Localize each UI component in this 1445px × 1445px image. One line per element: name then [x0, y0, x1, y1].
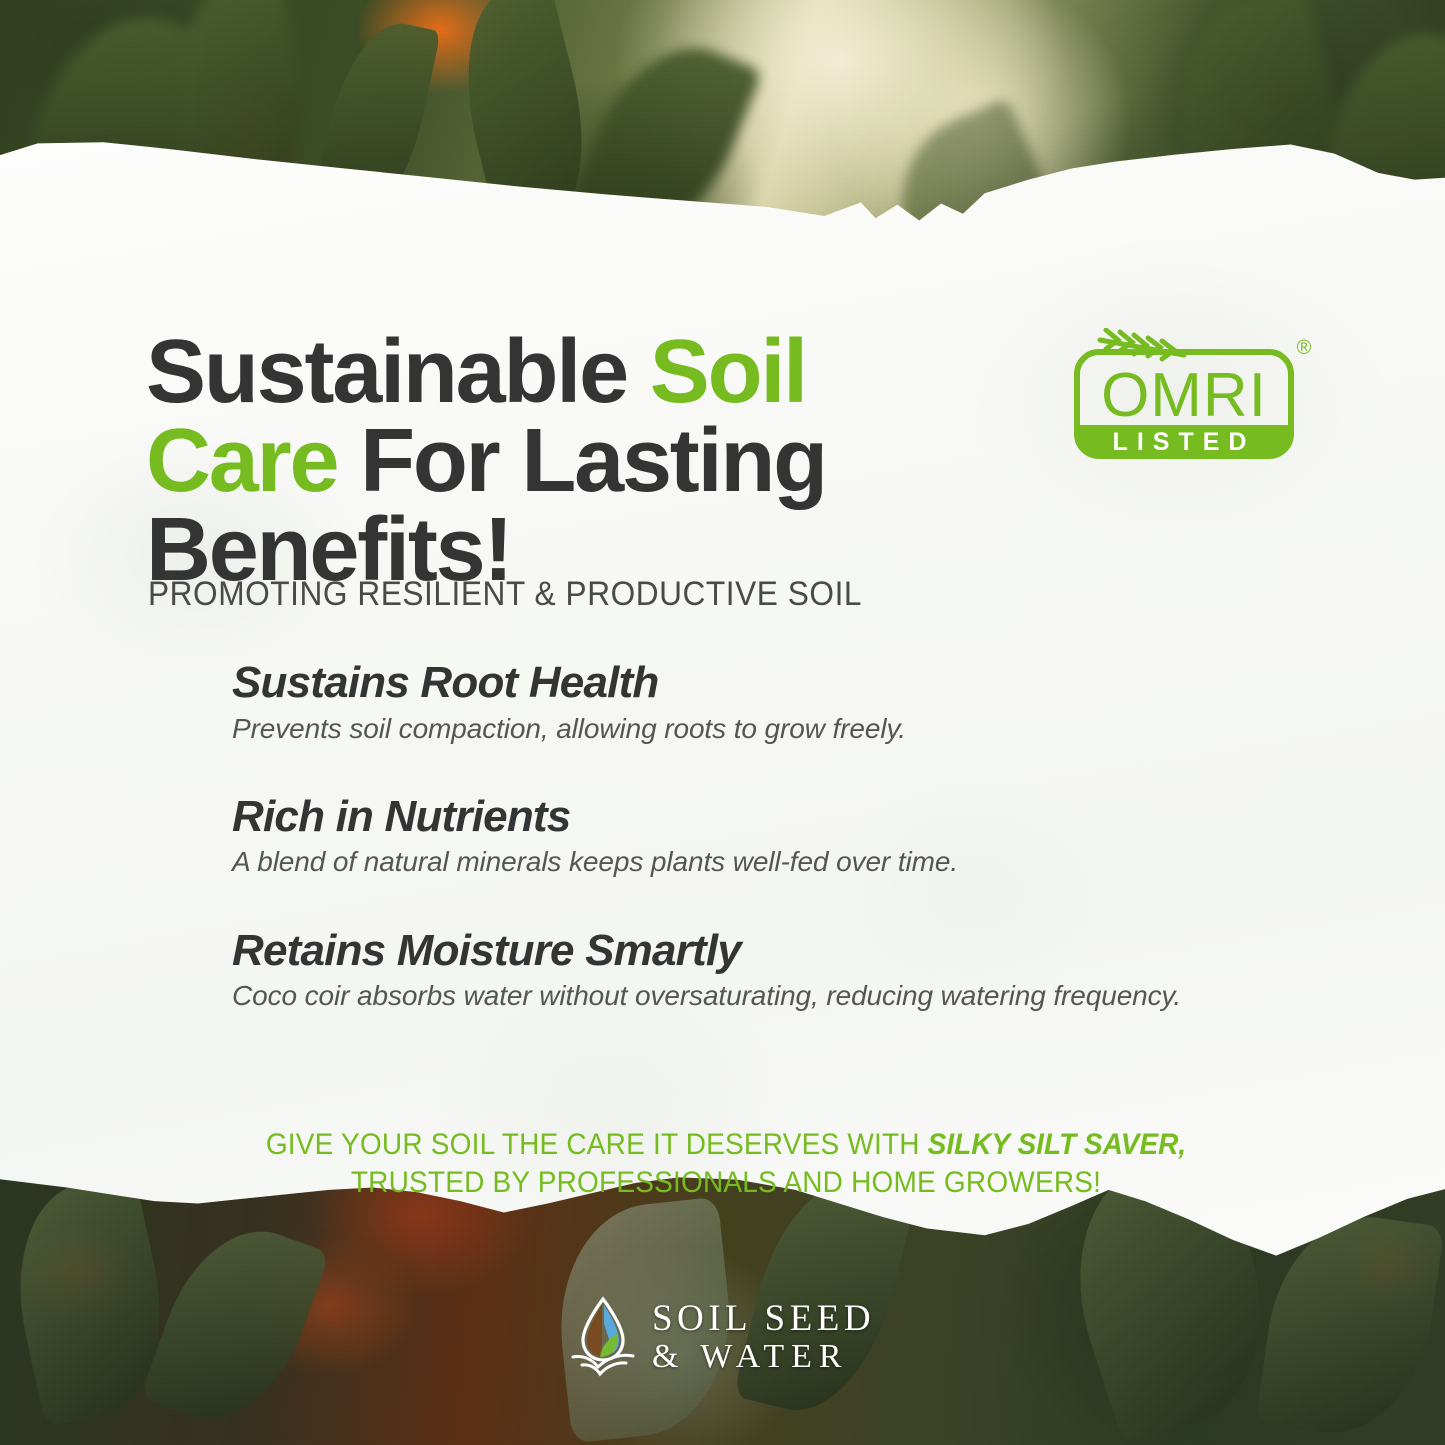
cta-part1: GIVE YOUR SOIL THE CARE IT DESERVES WITH [266, 1128, 928, 1161]
benefit-title: Rich in Nutrients [232, 793, 1242, 841]
headline-line1-accent: Soil [650, 322, 806, 422]
omri-badge-top-text: OMRI [1101, 361, 1267, 430]
registered-trademark-icon: ® [1297, 337, 1312, 359]
benefit-description: Coco coir absorbs water without oversatu… [232, 978, 1242, 1014]
brand-logo-line1: SOIL SEED [652, 1299, 875, 1338]
poster-content: Sustainable Soil Care For Lasting Benefi… [0, 132, 1445, 1267]
list-item: Sustains Root Health Prevents soil compa… [232, 659, 1242, 747]
headline-line2-plain: For Lasting [337, 411, 826, 511]
poster-root: Sustainable Soil Care For Lasting Benefi… [0, 0, 1445, 1445]
omri-listed-badge: OMRI LISTED ® [1066, 328, 1316, 468]
headline-line1-plain: Sustainable [146, 322, 650, 422]
cta-product-name: SILKY SILT SAVER, [928, 1128, 1187, 1161]
list-item: Retains Moisture Smartly Coco coir absor… [232, 927, 1242, 1015]
benefits-list: Sustains Root Health Prevents soil compa… [232, 659, 1242, 1015]
water-drop-leaf-hand-icon [570, 1295, 636, 1379]
hand-icon-lower [582, 1363, 626, 1374]
subheadline: PROMOTING RESILIENT & PRODUCTIVE SOIL [148, 575, 862, 614]
omri-badge-bottom-text: LISTED [1113, 428, 1256, 456]
call-to-action-text: GIVE YOUR SOIL THE CARE IT DESERVES WITH… [222, 1126, 1231, 1203]
benefit-title: Sustains Root Health [232, 659, 1242, 707]
benefit-description: Prevents soil compaction, allowing roots… [232, 711, 1242, 747]
brand-logo-text: SOIL SEED & WATER [652, 1299, 875, 1374]
headline-line2-accent: Care [146, 411, 337, 511]
brand-logo: SOIL SEED & WATER [0, 1291, 1445, 1383]
list-item: Rich in Nutrients A blend of natural min… [232, 793, 1242, 881]
benefit-description: A blend of natural minerals keeps plants… [232, 844, 1242, 880]
benefit-title: Retains Moisture Smartly [232, 927, 1242, 975]
omri-badge-svg: OMRI LISTED ® [1066, 328, 1316, 468]
cta-part2: TRUSTED BY PROFESSIONALS AND HOME GROWER… [351, 1166, 1101, 1199]
page-title: Sustainable Soil Care For Lasting Benefi… [146, 328, 1026, 595]
brand-logo-line2: & WATER [652, 1339, 875, 1375]
